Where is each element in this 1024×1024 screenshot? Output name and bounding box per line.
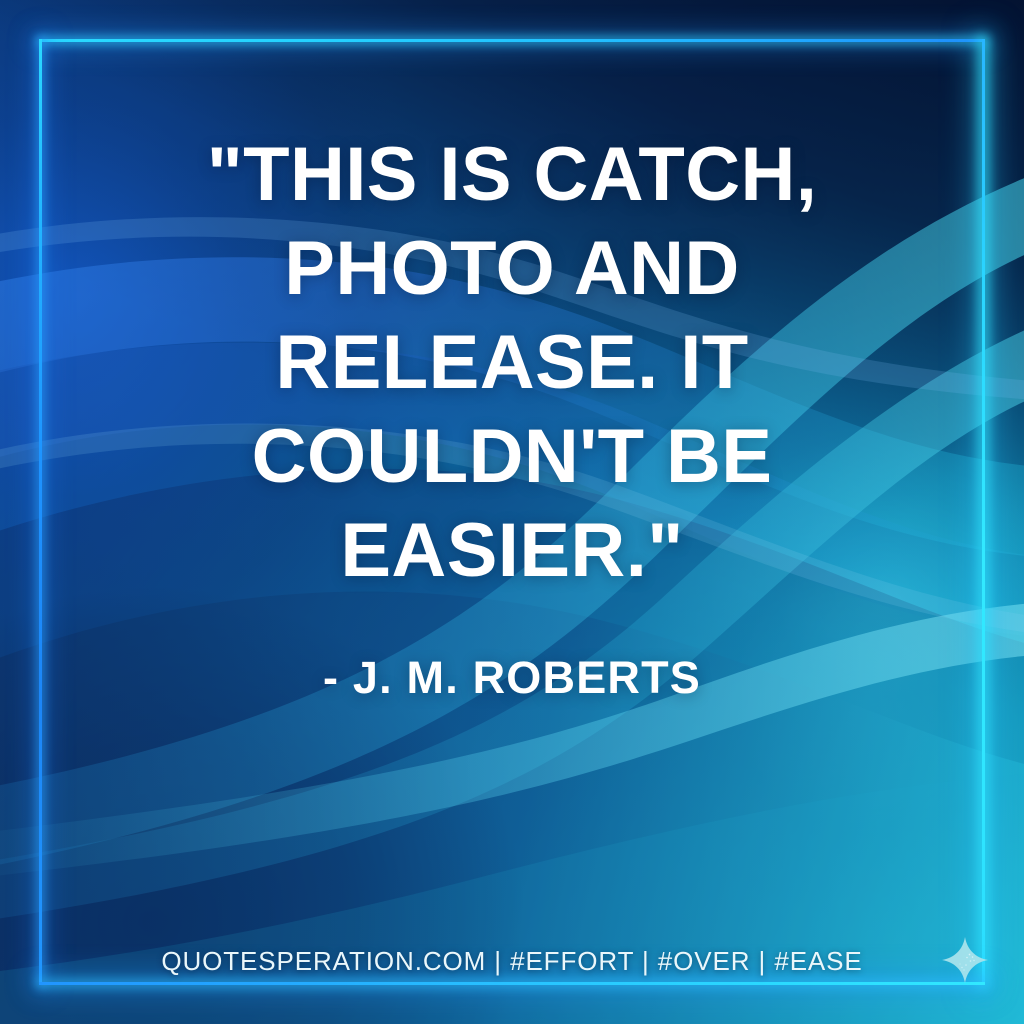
quote-text: "THIS IS CATCH, PHOTO AND RELEASE. IT CO… — [162, 128, 862, 598]
quote-attribution: - J. M. ROBERTS — [132, 650, 892, 706]
quote-poster: "THIS IS CATCH, PHOTO AND RELEASE. IT CO… — [0, 0, 1024, 1024]
poster-content: "THIS IS CATCH, PHOTO AND RELEASE. IT CO… — [0, 0, 1024, 1024]
quote-line-5: EASIER." — [162, 504, 862, 598]
sparkle-icon — [941, 936, 989, 984]
quote-line-1: "THIS IS CATCH, — [162, 128, 862, 222]
quote-line-3: RELEASE. IT — [162, 316, 862, 410]
quote-line-2: PHOTO AND — [162, 222, 862, 316]
quote-line-4: COULDN'T BE — [162, 410, 862, 504]
footer-credit: QUOTESPERATION.COM | #EFFORT | #OVER | #… — [0, 944, 1024, 978]
